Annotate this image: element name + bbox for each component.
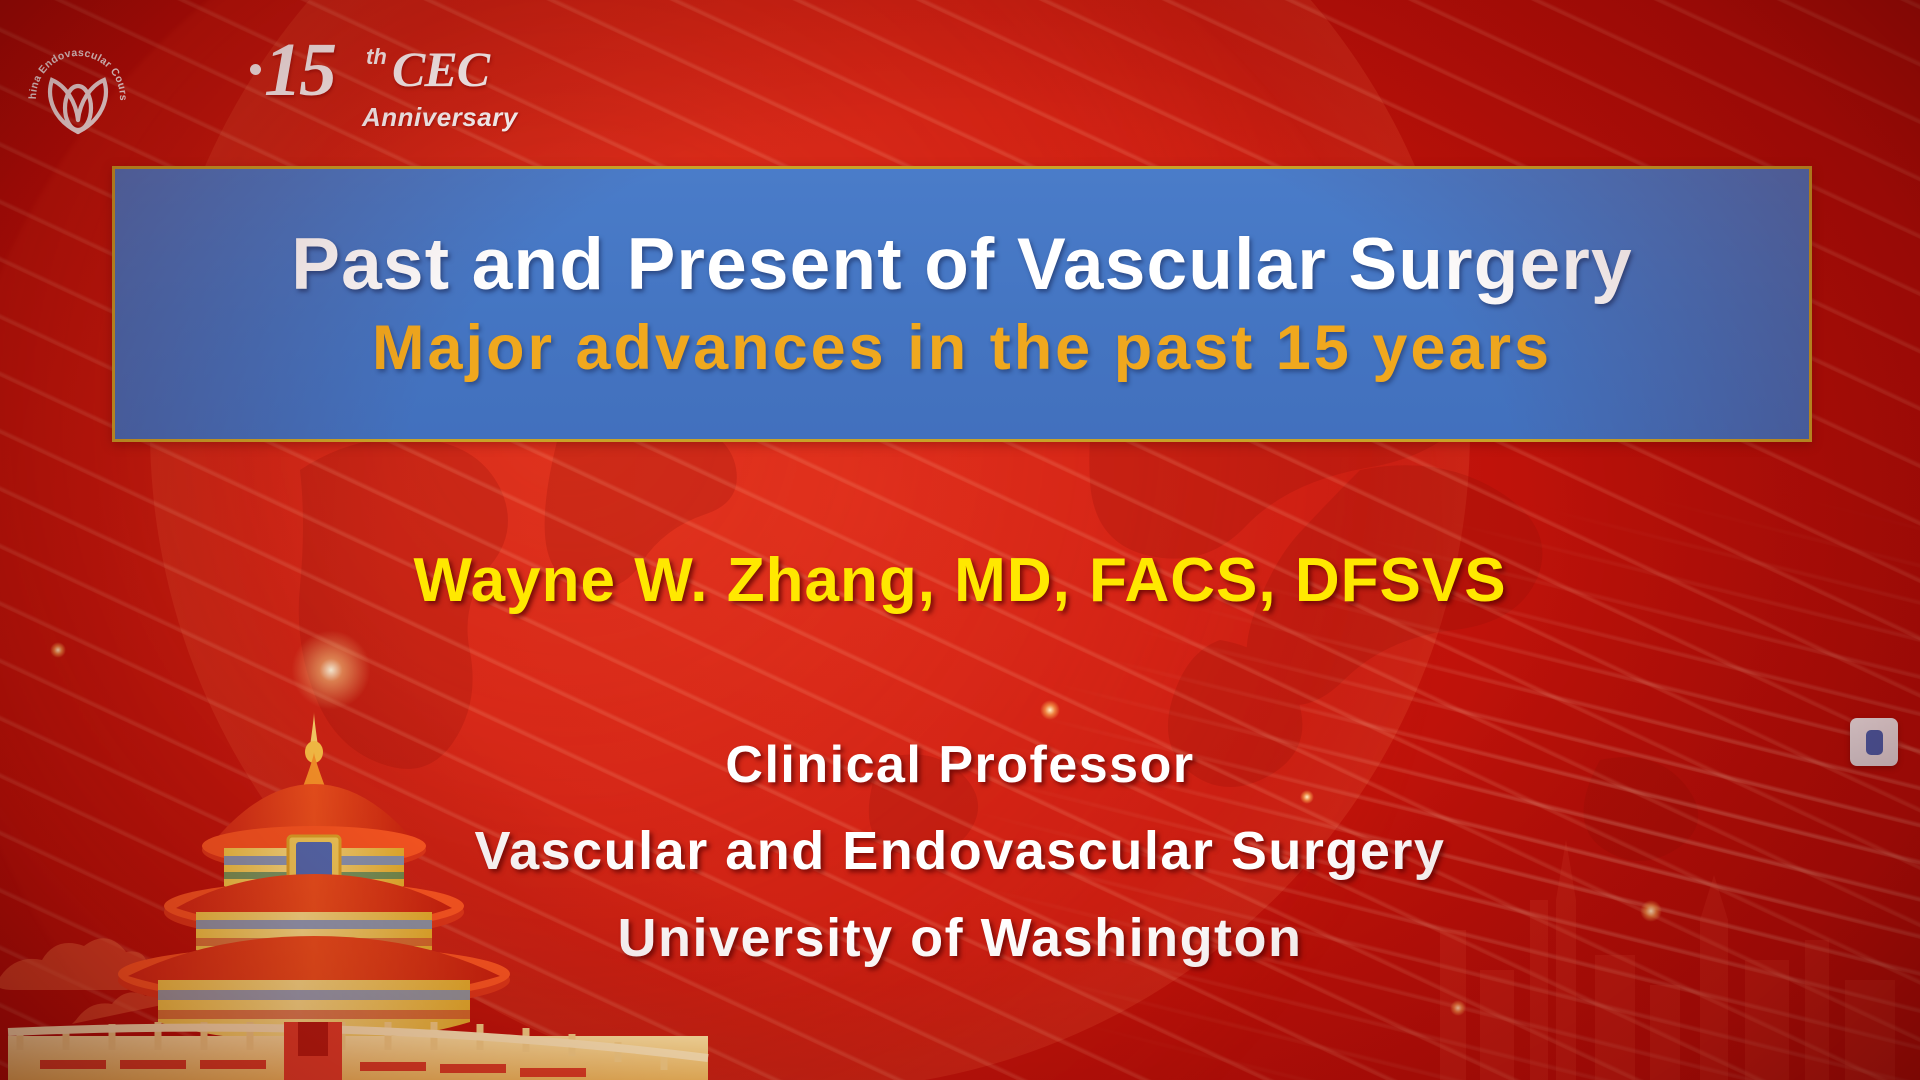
presentation-slide: China Endovascular Course 15 th CEC Anni… <box>0 0 1920 1080</box>
vignette-overlay <box>0 0 1920 1080</box>
